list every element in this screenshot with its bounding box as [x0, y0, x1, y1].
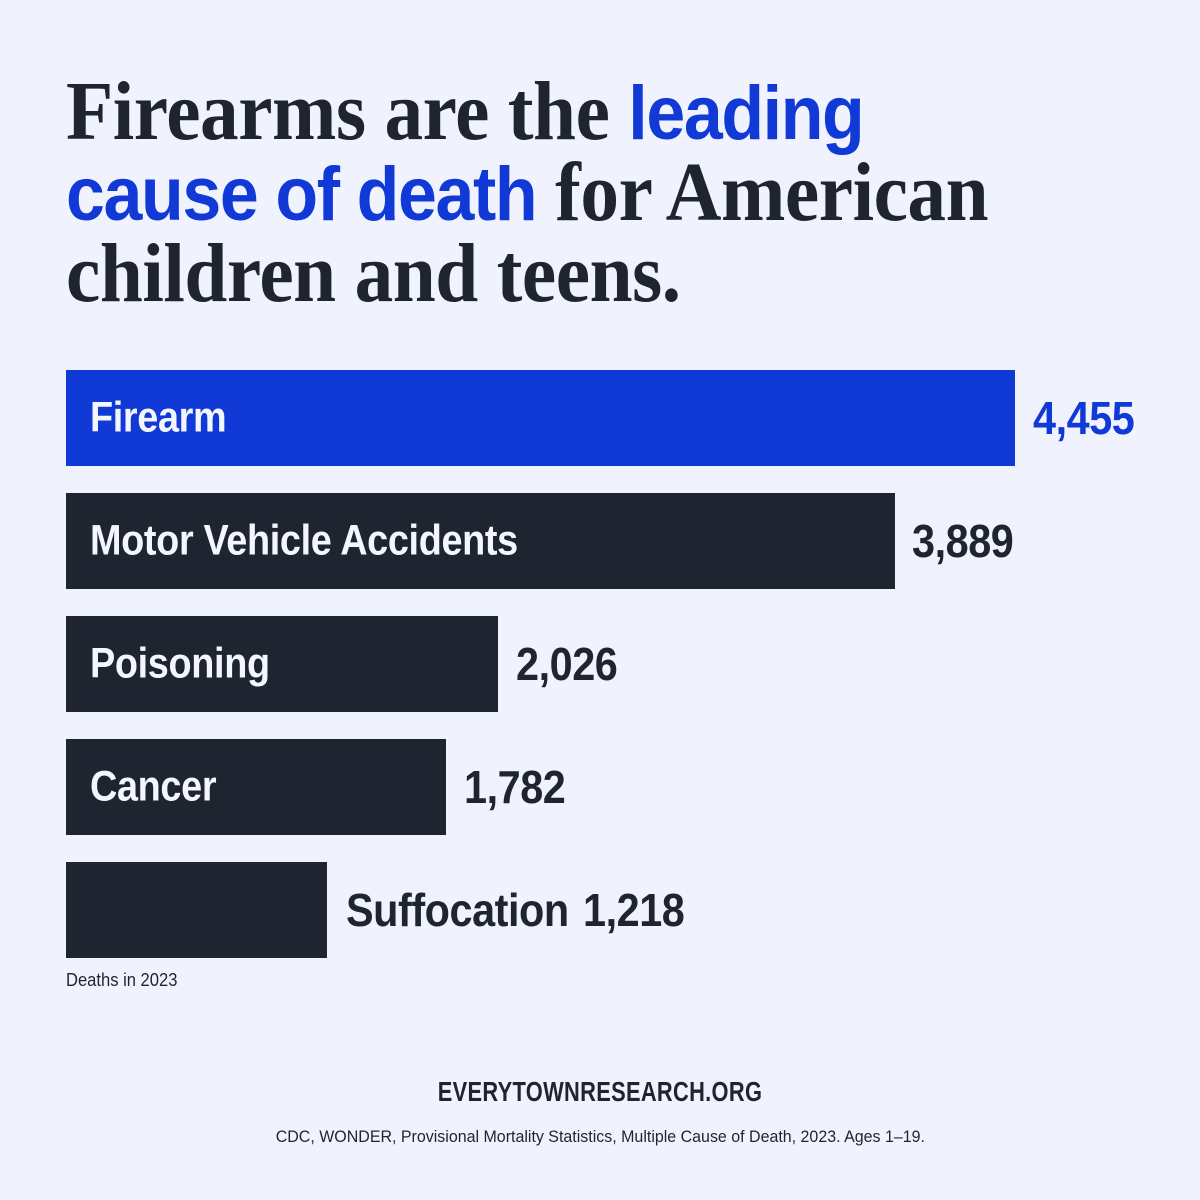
footer-source-text: CDC, WONDER, Provisional Mortality Stati… [275, 1127, 924, 1147]
headline-segment-1: Firearms are the [66, 65, 628, 158]
bar-suffocation [66, 862, 327, 958]
bar-row-suffocation: Suffocation 1,218 [66, 862, 1166, 958]
bar-value-suffocation: 1,218 [583, 883, 684, 937]
bar-label-firearm: Firearm [90, 394, 226, 443]
bar-row-poisoning: Poisoning 2,026 [66, 616, 1166, 712]
chart-caption: Deaths in 2023 [66, 970, 177, 991]
bar-row-firearm: Firearm 4,455 [66, 370, 1166, 466]
bar-value-cancer: 1,782 [464, 760, 565, 814]
bar-row-cancer: Cancer 1,782 [66, 739, 1166, 835]
bar-label-motor-vehicle-accidents: Motor Vehicle Accidents [90, 517, 518, 566]
footer-brand: EVERYTOWNRESEARCH.ORG [0, 1076, 1200, 1108]
bar-label-suffocation: Suffocation [346, 883, 569, 937]
bar-value-poisoning: 2,026 [516, 637, 617, 691]
footer-source: CDC, WONDER, Provisional Mortality Stati… [0, 1127, 1200, 1147]
bar-label-poisoning: Poisoning [90, 640, 270, 689]
bar-value-motor-vehicle-accidents: 3,889 [912, 514, 1013, 568]
bar-chart: Firearm 4,455 Motor Vehicle Accidents 3,… [66, 370, 1166, 985]
page-title: Firearms are the leading cause of death … [66, 72, 1060, 313]
bar-row-motor-vehicle-accidents: Motor Vehicle Accidents 3,889 [66, 493, 1166, 589]
footer-brand-text: EVERYTOWNRESEARCH.ORG [438, 1076, 762, 1108]
bar-label-cancer: Cancer [90, 763, 216, 812]
bar-value-firearm: 4,455 [1033, 391, 1134, 445]
